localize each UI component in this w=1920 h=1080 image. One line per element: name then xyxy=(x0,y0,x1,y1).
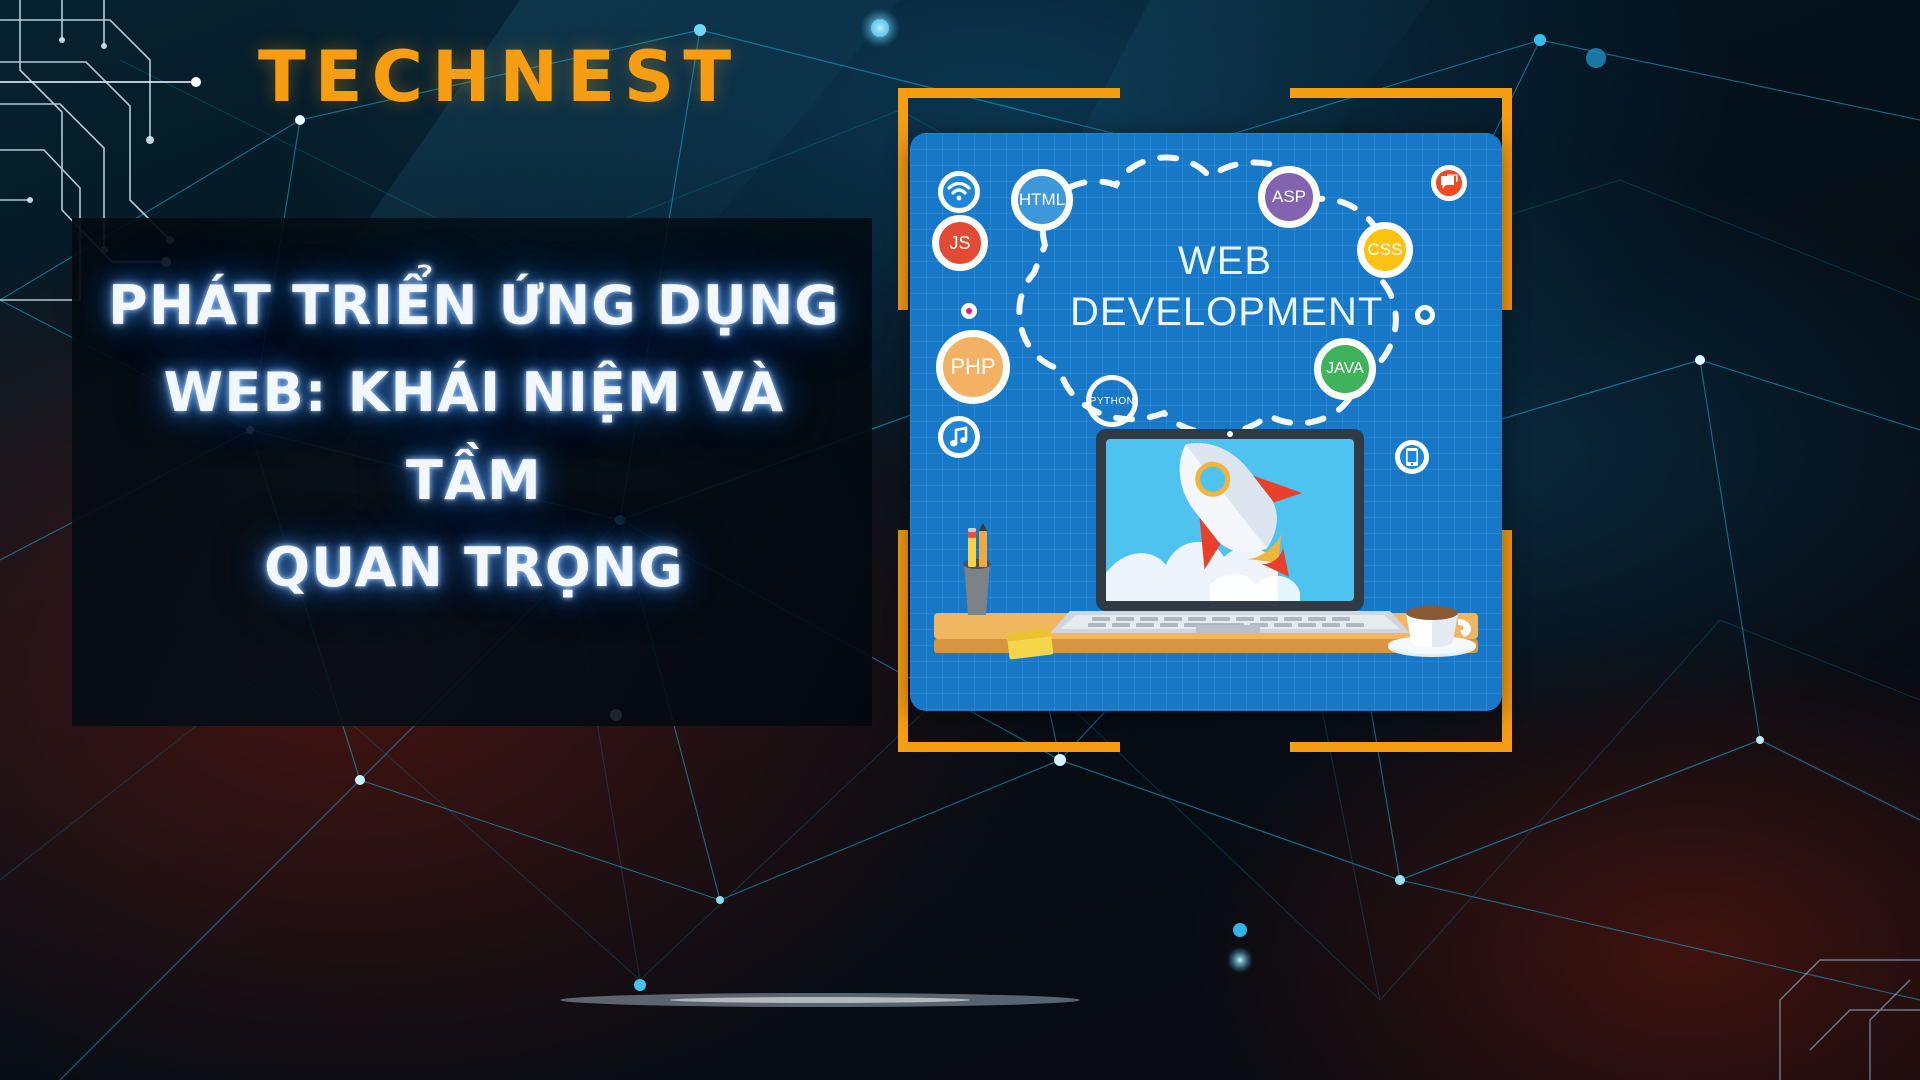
illustration-heading-line-1: WEB xyxy=(1070,236,1380,287)
tech-bubble-python[interactable]: PYTHON xyxy=(1086,375,1138,427)
mobile-icon xyxy=(1395,440,1429,474)
page-title-line-1: PHÁT TRIỂN ỨNG DỤNG xyxy=(96,262,852,349)
tech-bubble-php[interactable]: PHP xyxy=(936,330,1010,404)
tech-node-empty-circle xyxy=(1415,305,1435,325)
banner-canvas: TECHNEST PHÁT TRIỂN ỨNG DỤNG WEB: KHÁI N… xyxy=(0,0,1920,1080)
illustration-artwork xyxy=(910,133,1502,711)
illustration-heading: WEB DEVELOPMENT xyxy=(1070,236,1380,338)
illustration-heading-line-2: DEVELOPMENT xyxy=(1070,287,1380,338)
page-title-line-3: QUAN TRỌNG xyxy=(96,524,852,611)
tech-node-pink-dot xyxy=(961,303,977,319)
bracket-top-right-horizontal xyxy=(1290,88,1512,98)
music-icon xyxy=(938,416,980,458)
bracket-bottom-right-vertical xyxy=(1502,530,1512,752)
bracket-bottom-right-horizontal xyxy=(1290,742,1512,752)
bracket-top-left-vertical xyxy=(898,88,908,310)
brand-logo-text: TECHNEST xyxy=(258,42,740,112)
bracket-top-left-horizontal xyxy=(898,88,1120,98)
web-development-illustration: WEB DEVELOPMENT HTML ASP JS CSS PHP JAVA… xyxy=(910,133,1502,711)
tech-bubble-js[interactable]: JS xyxy=(932,215,988,271)
tech-bubble-asp[interactable]: ASP xyxy=(1258,166,1320,228)
bracket-bottom-left-vertical xyxy=(898,530,908,752)
bracket-top-right-vertical xyxy=(1502,88,1512,310)
bracket-bottom-left-horizontal xyxy=(898,742,1120,752)
page-title: PHÁT TRIỂN ỨNG DỤNG WEB: KHÁI NIỆM VÀ TẦ… xyxy=(96,262,852,612)
page-title-line-2: WEB: KHÁI NIỆM VÀ TẦM xyxy=(96,349,852,524)
tech-bubble-java[interactable]: JAVA xyxy=(1314,338,1376,400)
tech-bubble-html[interactable]: HTML xyxy=(1011,169,1073,231)
chat-icon xyxy=(1431,165,1467,201)
tech-bubble-css[interactable]: CSS xyxy=(1357,222,1413,278)
wifi-icon xyxy=(938,171,980,213)
brand-logo: TECHNEST xyxy=(258,42,740,112)
